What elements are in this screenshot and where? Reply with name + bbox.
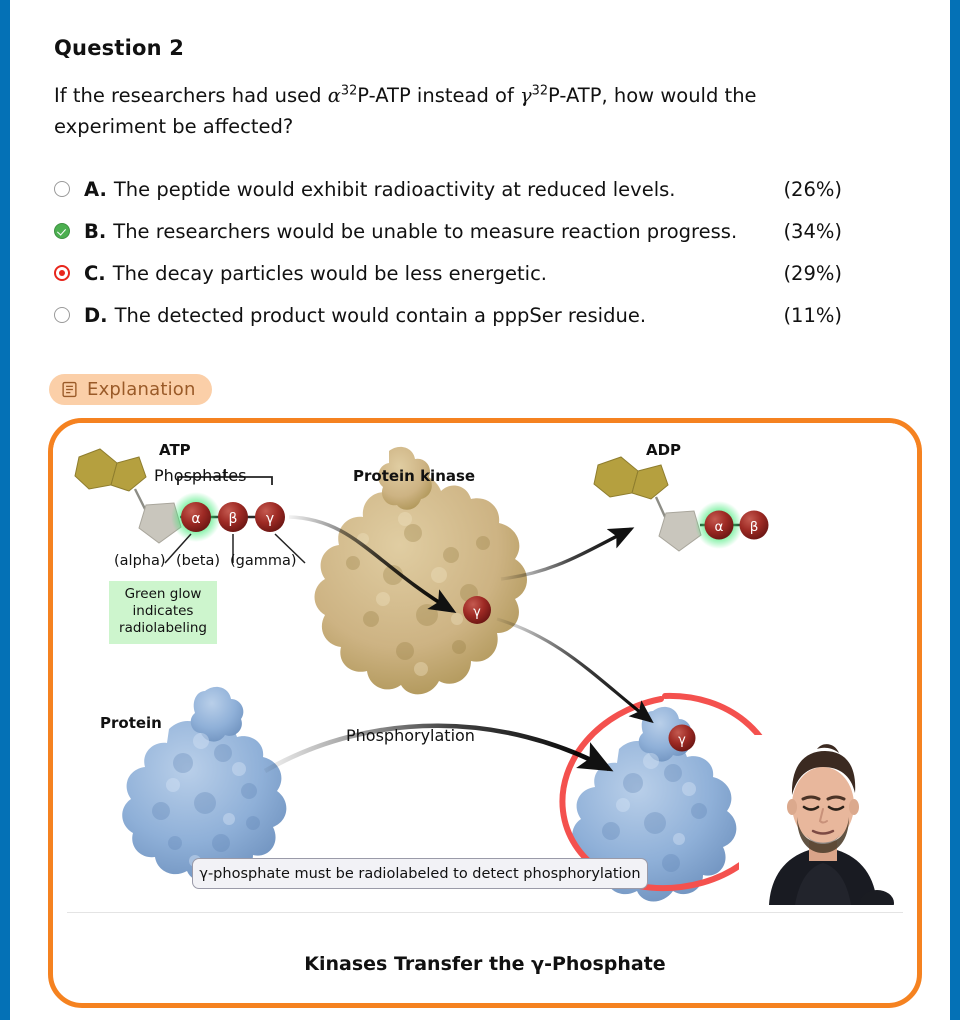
label-beta: (beta) — [176, 553, 220, 569]
presenter-avatar — [739, 735, 907, 905]
page-rail-right — [950, 0, 960, 1020]
option-text-c: The decay particles would be less energe… — [113, 262, 547, 285]
prompt-segment-2: P-ATP instead of — [357, 84, 520, 107]
label-atp: ATP — [159, 441, 191, 459]
svg-text:γ: γ — [266, 511, 274, 527]
alpha-symbol: α — [328, 84, 341, 107]
option-percent-d: (11%) — [783, 304, 842, 327]
option-letter-a: A. — [84, 178, 107, 201]
radio-selected-icon-c[interactable] — [54, 265, 70, 281]
option-letter-d: D. — [84, 304, 108, 327]
explanation-badge-label: Explanation — [87, 379, 196, 400]
option-percent-b: (34%) — [783, 220, 842, 243]
option-letter-b: B. — [84, 220, 106, 243]
label-phosphates: Phosphates — [154, 466, 246, 485]
explanation-badge[interactable]: Explanation — [49, 374, 212, 405]
explanation-card: α β γ — [48, 418, 922, 1008]
svg-text:α: α — [191, 511, 200, 527]
option-text-d: The detected product would contain a ppp… — [115, 304, 646, 327]
figure-divider — [67, 912, 903, 913]
label-alpha: (alpha) — [114, 553, 166, 569]
option-text-b: The researchers would be unable to measu… — [113, 220, 737, 243]
checkmark-correct-icon-b[interactable] — [54, 223, 70, 239]
radiolabel-legend-note: Green glow indicates radiolabeling — [109, 581, 217, 644]
svg-text:β: β — [229, 511, 238, 527]
document-icon — [61, 381, 78, 398]
answer-option-a[interactable]: A. The peptide would exhibit radioactivi… — [54, 168, 842, 210]
radio-unselected-icon-a[interactable] — [54, 181, 70, 197]
label-protein-kinase: Protein kinase — [353, 467, 475, 485]
option-letter-c: C. — [84, 262, 106, 285]
question-title: Question 2 — [54, 36, 184, 60]
label-phosphorylation: Phosphorylation — [346, 726, 475, 745]
gamma-symbol: γ — [520, 84, 532, 107]
prompt-segment-1: If the researchers had used — [54, 84, 328, 107]
label-protein: Protein — [100, 714, 162, 732]
gamma-on-kinase: γ — [463, 596, 491, 624]
arrow-gamma-to-protein — [497, 619, 651, 721]
option-percent-c: (29%) — [783, 262, 842, 285]
gamma-phosphate-callout: γ-phosphate must be radiolabeled to dete… — [192, 858, 648, 889]
svg-text:α: α — [715, 519, 724, 535]
svg-text:γ: γ — [678, 733, 686, 748]
adp-molecule: α β — [594, 457, 769, 551]
svg-text:β: β — [750, 519, 759, 535]
kinase-figure: α β γ — [53, 423, 917, 905]
figure-caption: Kinases Transfer the γ-Phosphate — [53, 953, 917, 975]
radio-unselected-icon-d[interactable] — [54, 307, 70, 323]
answer-option-c[interactable]: C. The decay particles would be less ene… — [54, 252, 842, 294]
answer-option-d[interactable]: D. The detected product would contain a … — [54, 294, 842, 336]
option-text-a: The peptide would exhibit radioactivity … — [114, 178, 676, 201]
superscript-32-b: 32 — [532, 84, 548, 99]
presenter-video-overlay[interactable] — [739, 735, 907, 905]
page-rail-left — [0, 0, 10, 1020]
option-percent-a: (26%) — [783, 178, 842, 201]
label-gamma: (gamma) — [230, 553, 297, 569]
label-adp: ADP — [646, 441, 681, 459]
question-prompt: If the researchers had used α32P-ATP ins… — [54, 80, 844, 142]
answer-option-b[interactable]: B. The researchers would be unable to me… — [54, 210, 842, 252]
svg-text:γ: γ — [473, 605, 481, 620]
page-content: Question 2 If the researchers had used α… — [10, 0, 950, 1020]
answer-options-list: A. The peptide would exhibit radioactivi… — [54, 168, 842, 336]
superscript-32-a: 32 — [341, 84, 357, 99]
